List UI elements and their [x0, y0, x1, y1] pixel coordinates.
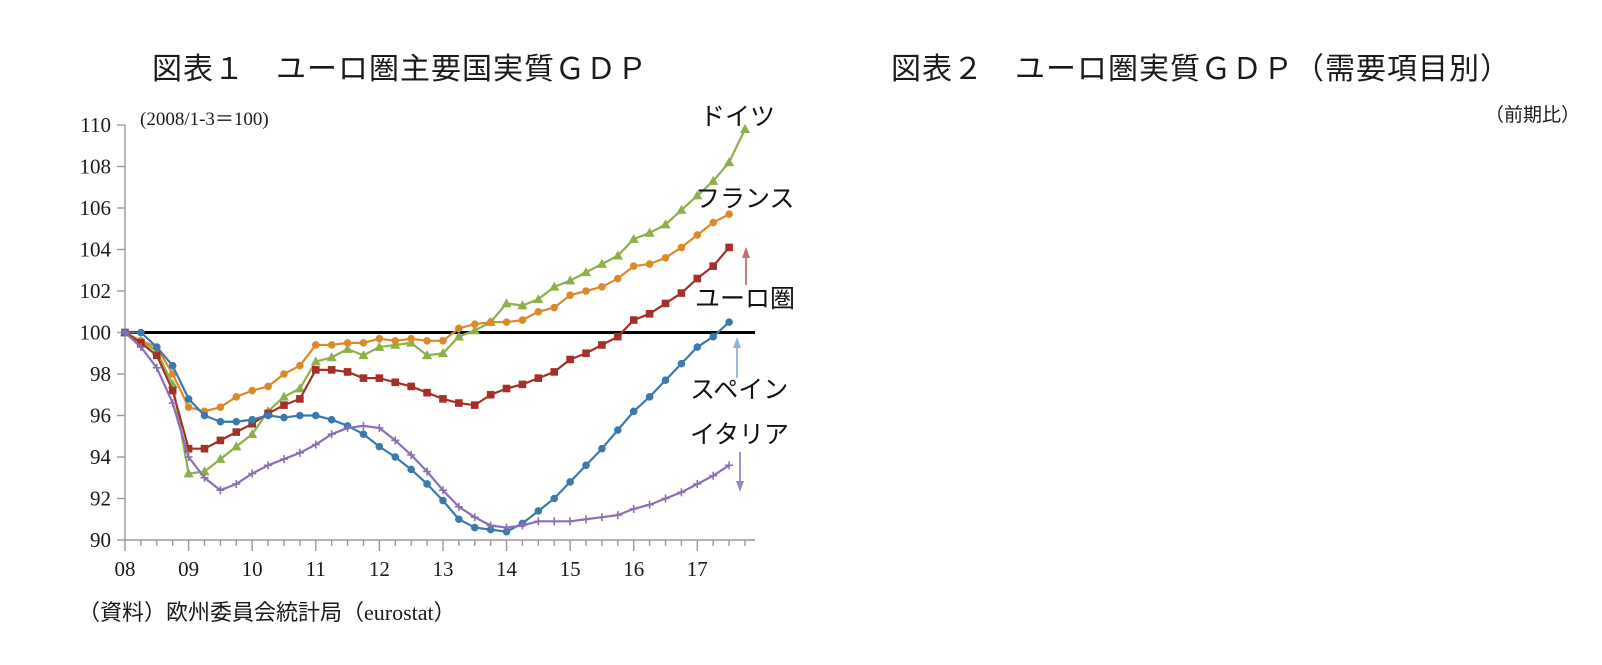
fig1-xtick-label: 15 — [560, 557, 581, 581]
fig1-xtick-label: 10 — [242, 557, 263, 581]
fig1-ytick-label: 104 — [80, 238, 112, 262]
fig1-ytick-label: 94 — [90, 445, 112, 469]
fig1-label-italy: イタリア — [690, 422, 789, 449]
fig1-ytick-label: 98 — [90, 362, 111, 386]
figure-1-source-note: （資料）欧州委員会統計局（eurostat） — [78, 595, 456, 627]
fig1-ytick-label: 100 — [80, 321, 112, 345]
figure-1-panel: 図表１ ユーロ圏主要国実質ＧＤＰ (2008/1-3＝100) 90929496… — [0, 0, 800, 665]
fig1-ytick-label: 110 — [80, 113, 111, 137]
fig1-ytick-label: 96 — [90, 404, 111, 428]
fig1-xtick-label: 11 — [306, 557, 326, 581]
fig1-ytick-label: 92 — [90, 487, 111, 511]
fig1-label-spain: スペイン — [690, 377, 788, 404]
fig1-label-euro: ユーロ圏 — [695, 286, 795, 313]
fig1-xtick-label: 08 — [115, 557, 136, 581]
fig1-xtick-label: 12 — [369, 557, 390, 581]
fig1-series-euro — [122, 244, 733, 452]
fig1-ytick-label: 90 — [90, 528, 111, 552]
fig1-ytick-label: 102 — [80, 279, 112, 303]
fig1-xtick-label: 16 — [623, 557, 644, 581]
fig1-ytick-label: 106 — [80, 196, 112, 220]
fig1-ytick-label: 108 — [80, 155, 112, 179]
fig1-xtick-label: 09 — [178, 557, 199, 581]
fig1-xtick-label: 13 — [432, 557, 453, 581]
fig1-label-france: フランス — [695, 186, 795, 213]
fig1-series-germany — [121, 125, 750, 477]
fig1-label-germany: ドイツ — [700, 104, 775, 131]
figure-2-panel: 図表２ ユーロ圏実質ＧＤＰ（需要項目別） （前期比） -0.8%-0.6%-0.… — [800, 0, 1602, 665]
fig1-series-france — [122, 211, 733, 415]
figure-1-chart: 9092949698100102104106108110080910111213… — [0, 0, 800, 665]
fig1-xtick-label: 17 — [687, 557, 708, 581]
figure-2-chart: -0.8%-0.6%-0.4%-0.2%0.0%0.2%0.4%0.6%0.8%… — [800, 0, 1602, 665]
fig1-xtick-label: 14 — [496, 557, 518, 581]
fig1-callout-arrows — [733, 247, 750, 492]
